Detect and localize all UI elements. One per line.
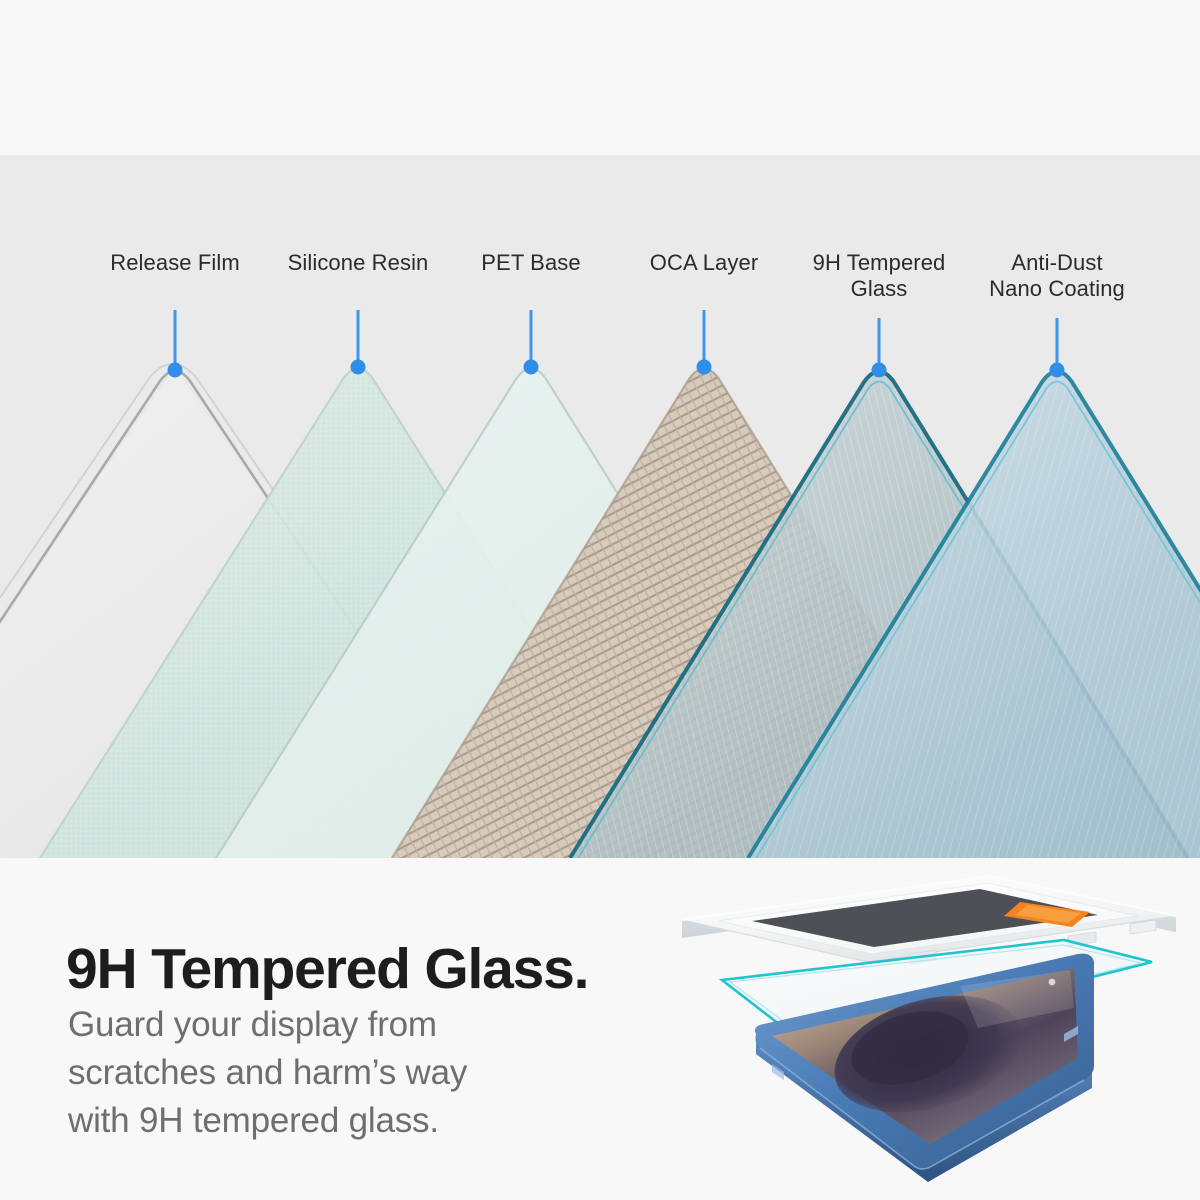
callout-label-anti-dust-nano-coating: Anti-Dust Nano Coating (989, 250, 1125, 302)
callout-label-silicone-resin: Silicone Resin (288, 250, 429, 276)
product-feature-page: Release Film Silicone Resin PET Base OCA… (0, 0, 1200, 1200)
product-shot (660, 858, 1200, 1200)
promo-section: 9H Tempered Glass. Guard your display fr… (0, 858, 1200, 1200)
callout-label-9h-tempered-glass: 9H Tempered Glass (813, 250, 946, 302)
product-shot-illustration (660, 858, 1200, 1200)
promo-subcopy: Guard your display from scratches and ha… (68, 1001, 467, 1145)
promo-headline: 9H Tempered Glass. (66, 936, 588, 1002)
callout-label-pet-base: PET Base (481, 250, 580, 276)
callout-label-release-film: Release Film (110, 250, 240, 276)
callout-label-oca-layer: OCA Layer (650, 250, 759, 276)
